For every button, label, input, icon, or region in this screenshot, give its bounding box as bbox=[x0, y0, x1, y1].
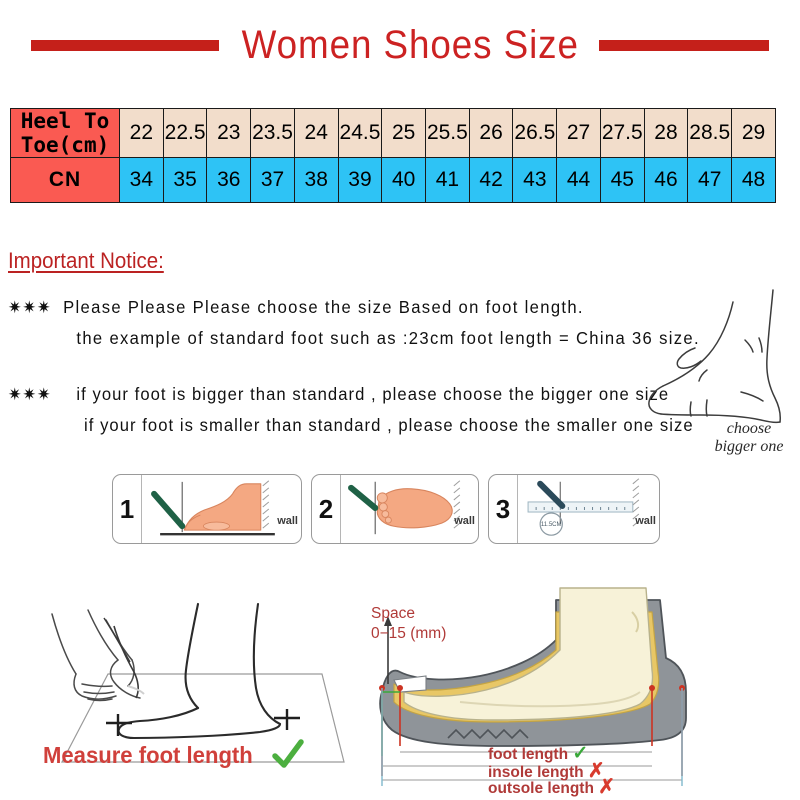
cell-cn: 42 bbox=[469, 158, 513, 203]
asterisk-bullet-icon: ✷✷✷ bbox=[8, 293, 63, 323]
page-title: Women Shoes Size bbox=[241, 25, 578, 65]
outsole-length-label: outsole length ✗ bbox=[488, 774, 615, 799]
cell-cn: 41 bbox=[426, 158, 470, 203]
cell-cn: 46 bbox=[644, 158, 688, 203]
cell-cm: 27.5 bbox=[600, 109, 644, 158]
outsole-length-text: outsole length bbox=[488, 780, 594, 797]
wall-label: wall bbox=[454, 515, 475, 527]
cell-cm: 24.5 bbox=[338, 109, 382, 158]
cell-cn: 36 bbox=[207, 158, 251, 203]
step-2-illustration: wall bbox=[341, 475, 478, 543]
cell-cn: 37 bbox=[251, 158, 295, 203]
cell-cm: 25 bbox=[382, 109, 426, 158]
notice-text: the example of standard foot such as :23… bbox=[63, 323, 700, 353]
notice-text: if your foot is bigger than standard , p… bbox=[63, 379, 669, 409]
cell-cn: 34 bbox=[120, 158, 164, 203]
step-panel-1: 1 wall bbox=[112, 474, 302, 544]
cell-cm: 23 bbox=[207, 109, 251, 158]
step-number: 1 bbox=[113, 475, 142, 543]
step-1-illustration: wall bbox=[142, 475, 301, 543]
cell-cm: 25.5 bbox=[426, 109, 470, 158]
foot-profile-sketch-icon bbox=[645, 282, 800, 442]
measure-foot-length-caption: Measure foot length bbox=[43, 742, 253, 769]
page-title-banner: Women Shoes Size bbox=[0, 14, 800, 76]
step-number: 3 bbox=[489, 475, 518, 543]
asterisk-bullet-icon: ✷✷✷ bbox=[8, 380, 63, 410]
cell-cn: 39 bbox=[338, 158, 382, 203]
step-panel-3: 3 11.5CM bbox=[488, 474, 660, 544]
notice-block-size-guidance: ✷✷✷ Please Please Please choose the size… bbox=[8, 292, 736, 354]
wall-label: wall bbox=[635, 515, 656, 527]
size-conversion-table: Heel To Toe(cm) 22 22.5 23 23.5 24 24.5 … bbox=[10, 108, 776, 203]
cell-cm: 22 bbox=[120, 109, 164, 158]
cross-icon: ✗ bbox=[598, 776, 615, 798]
cell-cm: 24 bbox=[294, 109, 338, 158]
notice-line: ✷✷✷ the example of standard foot such as… bbox=[8, 323, 700, 354]
cell-cm: 29 bbox=[732, 109, 776, 158]
step-3-illustration: 11.5CM wall bbox=[518, 475, 659, 543]
cell-cn: 38 bbox=[294, 158, 338, 203]
cell-cm: 23.5 bbox=[251, 109, 295, 158]
step-panel-2: 2 wall bbox=[311, 474, 479, 544]
table-row-heel-to-toe: Heel To Toe(cm) 22 22.5 23 23.5 24 24.5 … bbox=[11, 109, 776, 158]
step-number: 2 bbox=[312, 475, 341, 543]
cell-cm: 26.5 bbox=[513, 109, 557, 158]
notice-block-bigger-smaller: ✷✷✷ if your foot is bigger than standard… bbox=[8, 379, 730, 441]
title-rule-right bbox=[599, 40, 769, 51]
cell-cn: 48 bbox=[732, 158, 776, 203]
notice-text: Please Please Please choose the size Bas… bbox=[63, 292, 584, 322]
cell-cn: 40 bbox=[382, 158, 426, 203]
cell-cm: 26 bbox=[469, 109, 513, 158]
cell-cn: 35 bbox=[163, 158, 207, 203]
ruler-reading: 11.5CM bbox=[541, 522, 562, 528]
space-annotation: Space 0−15 (mm) bbox=[371, 604, 446, 644]
wall-label: wall bbox=[277, 515, 298, 527]
space-label-line-1: Space bbox=[371, 604, 446, 624]
notice-line: ✷✷✷ Please Please Please choose the size… bbox=[8, 292, 700, 323]
measurement-steps: 1 wall 2 bbox=[112, 474, 660, 544]
cell-cm: 28.5 bbox=[688, 109, 732, 158]
cell-cn: 43 bbox=[513, 158, 557, 203]
space-label-line-2: 0−15 (mm) bbox=[371, 624, 446, 644]
green-check-icon bbox=[270, 737, 306, 773]
table-row-cn: CN 34 35 36 37 38 39 40 41 42 43 44 45 4… bbox=[11, 158, 776, 203]
choose-bigger-line-2: bigger one bbox=[694, 438, 800, 456]
notice-line: ✷✷✷ if your foot is bigger than standard… bbox=[8, 379, 694, 410]
notice-line: ✷✷✷ if your foot is smaller than standar… bbox=[8, 410, 694, 441]
cell-cn: 47 bbox=[688, 158, 732, 203]
cell-cm: 22.5 bbox=[163, 109, 207, 158]
important-notice-heading: Important Notice: bbox=[8, 248, 164, 274]
cell-cn: 45 bbox=[600, 158, 644, 203]
row-header-heel-to-toe: Heel To Toe(cm) bbox=[11, 109, 120, 158]
title-rule-left bbox=[31, 40, 219, 51]
notice-text: if your foot is smaller than standard , … bbox=[63, 410, 694, 440]
cell-cm: 27 bbox=[557, 109, 601, 158]
cell-cn: 44 bbox=[557, 158, 601, 203]
choose-bigger-line-1: choose bbox=[694, 420, 800, 438]
choose-bigger-caption: choose bigger one bbox=[694, 420, 800, 456]
row-header-cn: CN bbox=[11, 158, 120, 203]
cell-cm: 28 bbox=[644, 109, 688, 158]
